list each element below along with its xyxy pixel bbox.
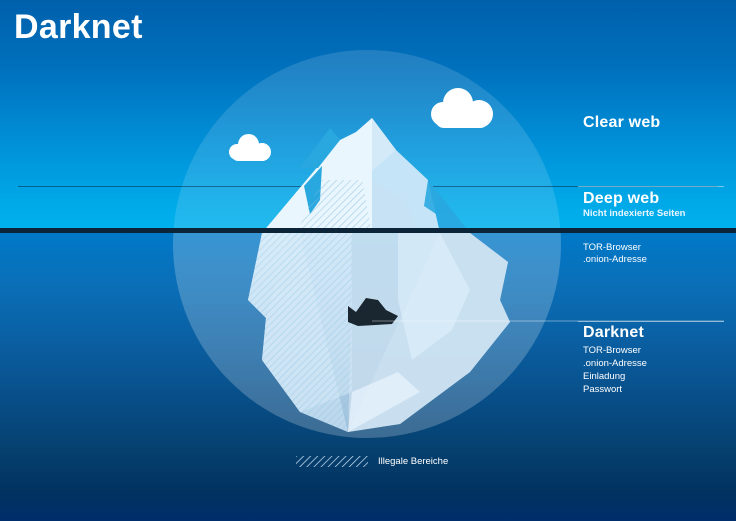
darknet-requirement-2: Einladung <box>583 370 625 383</box>
legend-label: Illegale Bereiche <box>378 456 448 467</box>
label-column: Clear web Deep web Nicht indexierte Seit… <box>578 0 736 521</box>
iceberg-underwater <box>248 233 510 432</box>
label-darknet: Darknet <box>583 324 644 342</box>
cloud-icon <box>431 88 493 128</box>
darknet-separator <box>578 321 724 322</box>
cloud-icon <box>229 134 271 162</box>
label-deep-web: Deep web <box>583 190 659 208</box>
darknet-requirement-1: .onion-Adresse <box>583 357 647 370</box>
deep-web-requirement-1: .onion-Adresse <box>583 253 647 266</box>
deep-web-separator <box>578 186 724 187</box>
iceberg-peak <box>262 118 470 233</box>
legend: Illegale Bereiche <box>296 456 448 467</box>
label-deep-web-subtitle: Nicht indexierte Seiten <box>583 208 685 219</box>
label-clear-web: Clear web <box>583 114 660 132</box>
darknet-requirement-3: Passwort <box>583 383 622 396</box>
page-title: Darknet <box>14 8 143 47</box>
legend-hatch-swatch <box>296 456 368 467</box>
darknet-requirement-0: TOR-Browser <box>583 344 641 357</box>
infographic-canvas: Darknet Clear web Deep web Nicht indexie… <box>0 0 736 521</box>
